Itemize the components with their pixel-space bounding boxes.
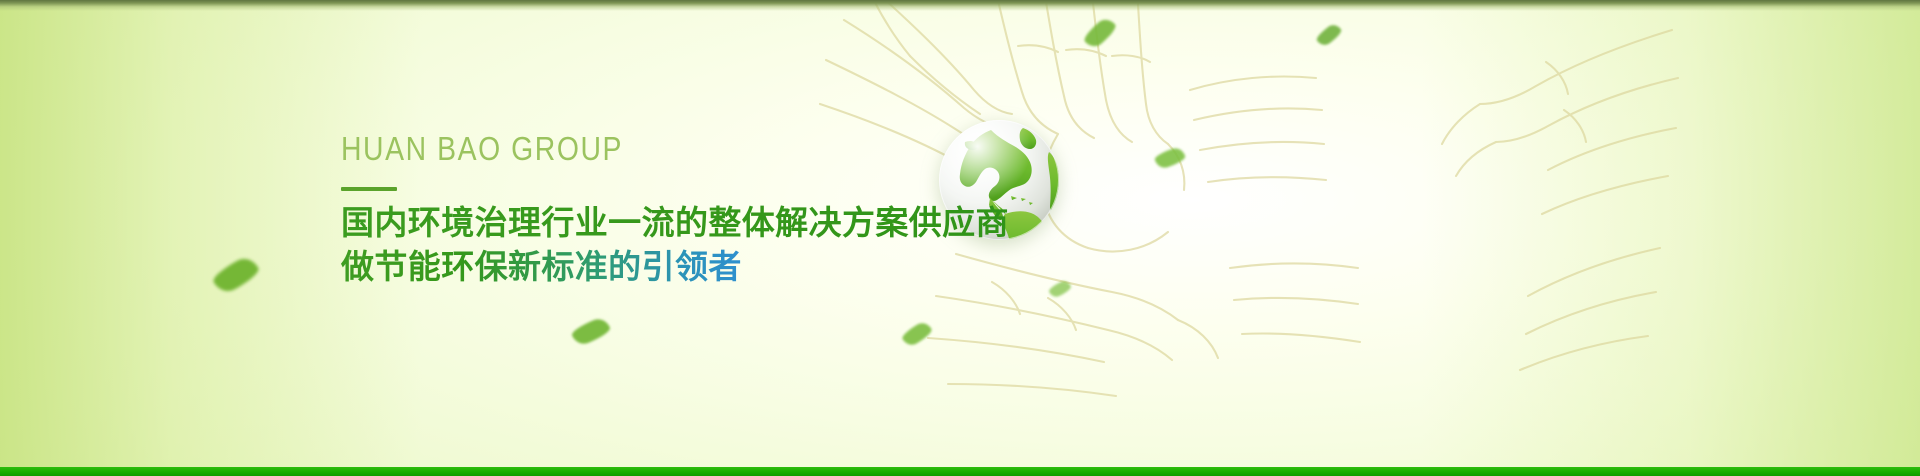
top-shadow-strip bbox=[0, 0, 1920, 11]
banner-headline-line-1: 国内环境治理行业一流的整体解决方案供应商 bbox=[341, 201, 1101, 245]
bottom-accent-bar bbox=[0, 467, 1920, 476]
leaf-shape bbox=[210, 254, 262, 297]
leaf-shape bbox=[570, 316, 612, 348]
banner-eyebrow: HUAN BAO GROUP bbox=[341, 132, 995, 165]
divider-rule bbox=[341, 187, 397, 191]
banner-copy: HUAN BAO GROUP 国内环境治理行业一流的整体解决方案供应商 做节能环… bbox=[341, 132, 1101, 289]
hero-banner: HUAN BAO GROUP 国内环境治理行业一流的整体解决方案供应商 做节能环… bbox=[0, 0, 1920, 476]
banner-headline-line-2: 做节能环保新标准的引领者 bbox=[341, 245, 1101, 289]
